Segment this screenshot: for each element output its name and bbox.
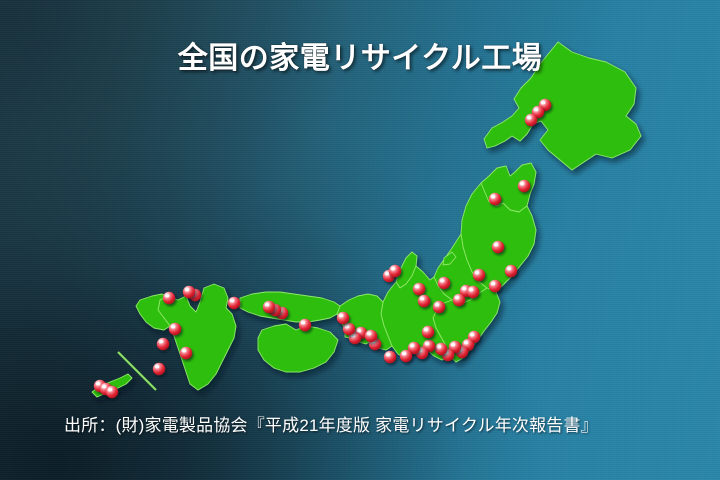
region-chugoku <box>240 292 340 322</box>
region-okinawa <box>92 374 132 397</box>
plant-marker <box>383 270 395 282</box>
slide-root: 全国の家電リサイクル工場 出所：(財)家電製品協会『平成21年度版 家電リサイク… <box>0 0 720 480</box>
plant-marker <box>228 297 240 309</box>
plant-marker <box>189 289 201 301</box>
source-credit: 出所：(財)家電製品協会『平成21年度版 家電リサイクル年次報告書』 <box>64 411 598 436</box>
region-kyushu <box>158 284 236 390</box>
japan-landmass <box>92 42 641 397</box>
page-title: 全国の家電リサイクル工場 <box>0 33 720 77</box>
plant-marker <box>157 338 169 350</box>
region-shikoku <box>258 324 338 372</box>
plant-marker <box>384 351 396 363</box>
plant-marker <box>153 363 165 375</box>
